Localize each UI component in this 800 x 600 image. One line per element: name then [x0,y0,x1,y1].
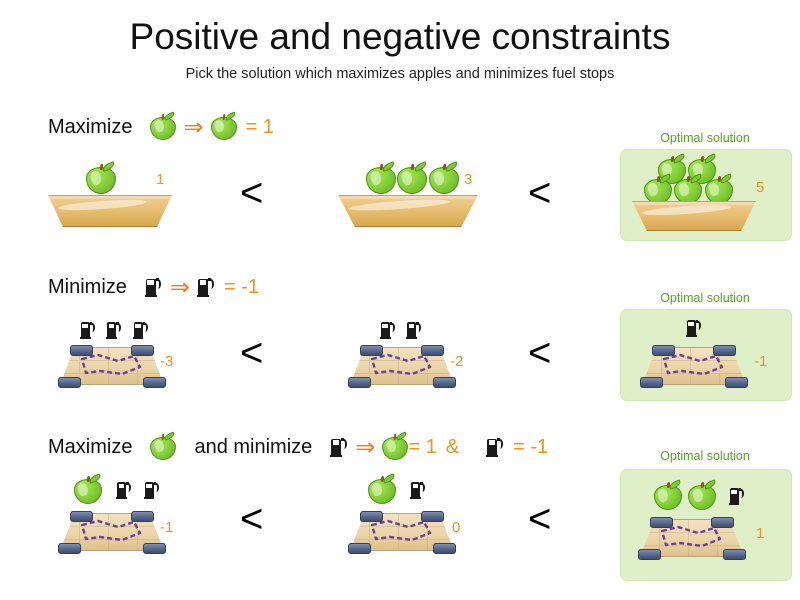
less-than-icon: < [528,173,551,213]
apple-icon [366,163,396,195]
fuel-pump-icon [330,437,348,457]
less-than-icon: < [240,333,263,373]
route-map-icon [350,347,454,385]
apple-icon [74,475,102,505]
fuel-pump-icon [486,437,504,457]
legend-conjunction: and minimize [194,436,312,459]
bowl-icon [48,195,172,227]
apple-icon [86,163,116,195]
score-value: -1 [160,519,173,536]
score-value: 0 [452,519,460,536]
solution-cell[interactable]: 1 [48,151,228,241]
solution-cell[interactable]: 3 [338,151,538,241]
page-title: Positive and negative constraints [0,16,800,58]
apple-icon [382,433,408,461]
legend-equals: = -1 [224,276,259,299]
double-arrow-right-icon: ⇒ [170,275,190,299]
optimal-solution-label: Optimal solution [620,449,790,463]
apple-icon [688,481,716,511]
solution-cell-optimal[interactable]: 5 [620,151,790,241]
legend-minimize-fuel: Minimize ⇒ = -1 [48,265,259,309]
apple-icon [654,481,682,511]
apple-icon [397,163,427,195]
bowl-icon [338,195,478,227]
legend-ampersand: & [446,436,459,459]
fuel-pump-icon [729,487,745,505]
fuel-pump-icon [406,321,422,339]
route-map-icon [350,513,454,551]
score-value: 1 [756,525,764,542]
apple-icon [368,475,396,505]
apple-icon [211,113,237,141]
double-arrow-right-icon: ⇒ [355,435,375,459]
legend-verb: Maximize [48,116,132,139]
route-map-icon [642,347,746,385]
fuel-pump-icon [116,481,132,499]
score-value: -2 [450,353,463,370]
fuel-pump-icon [380,321,396,339]
legend-equals: = 1 [246,116,274,139]
optimal-solution-label: Optimal solution [620,291,790,305]
solution-cell-optimal[interactable]: -1 [620,311,790,401]
score-value: 3 [464,171,472,188]
legend-maximize-apples: Maximize ⇒ = 1 [48,105,274,149]
apple-icon [150,113,176,141]
fuel-pump-icon [410,481,426,499]
fuel-pump-icon [144,481,160,499]
solution-cell[interactable]: 0 [338,471,538,571]
fuel-pump-icon [80,321,96,339]
route-map-icon [640,519,744,557]
page-subtitle: Pick the solution which maximizes apples… [0,66,800,82]
fuel-pump-icon [133,321,149,339]
legend-equals: = 1 [408,436,436,459]
fuel-pump-icon [686,319,702,337]
score-value: -3 [160,353,173,370]
legend-verb: Maximize [48,436,132,459]
score-value: 1 [156,171,164,188]
solution-cell[interactable]: -3 [48,311,228,401]
legend-equals-2: = -1 [513,436,548,459]
solution-cell[interactable]: -1 [48,471,228,571]
solution-cell-optimal[interactable]: 1 [620,471,790,581]
bowl-icon [632,201,756,231]
solution-cell[interactable]: -2 [338,311,538,401]
route-map-icon [60,513,164,551]
double-arrow-right-icon: ⇒ [183,115,203,139]
apple-icon [150,433,176,461]
fuel-pump-icon [197,277,215,297]
less-than-icon: < [240,173,263,213]
legend-maximize-apples-minimize-fuel: Maximize and minimize ⇒ = 1 & = -1 [48,425,548,469]
route-map-icon [60,347,164,385]
less-than-icon: < [240,499,263,539]
score-value: 5 [756,179,764,196]
less-than-icon: < [528,499,551,539]
apple-icon [429,163,459,195]
score-value: -1 [754,353,767,370]
slide-canvas: Positive and negative constraints Pick t… [0,0,800,600]
less-than-icon: < [528,333,551,373]
fuel-pump-icon [106,321,122,339]
optimal-solution-label: Optimal solution [620,131,790,145]
fuel-pump-icon [145,277,163,297]
legend-verb: Minimize [48,276,127,299]
